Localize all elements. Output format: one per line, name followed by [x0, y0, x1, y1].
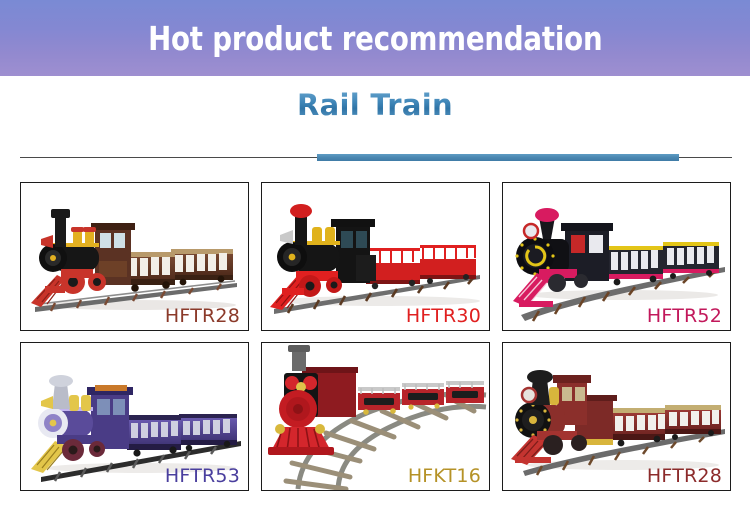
product-label: HFTR53: [165, 467, 240, 486]
product-card[interactable]: HFTR28: [502, 342, 731, 491]
product-recommendation-page: Hot product recommendation Rail Train: [0, 0, 750, 507]
product-grid: HFTR28: [20, 182, 732, 492]
page-banner: Hot product recommendation: [0, 0, 750, 76]
page-title: Hot product recommendation: [148, 22, 602, 55]
section-title-container: Rail Train: [0, 88, 750, 122]
product-label: HFTR28: [165, 307, 240, 326]
section-title: Rail Train: [297, 88, 453, 122]
product-label: HFTR28: [647, 467, 722, 486]
product-card[interactable]: HFTR52: [502, 182, 731, 331]
section-divider: [0, 153, 750, 163]
product-label: HFTR52: [647, 307, 722, 326]
product-label: HFKT16: [408, 467, 481, 486]
product-card[interactable]: HFKT16: [261, 342, 490, 491]
product-card[interactable]: HFTR28: [20, 182, 249, 331]
product-card[interactable]: HFTR30: [261, 182, 490, 331]
product-card[interactable]: HFTR53: [20, 342, 249, 491]
divider-accent-bar: [317, 154, 679, 161]
product-label: HFTR30: [406, 307, 481, 326]
